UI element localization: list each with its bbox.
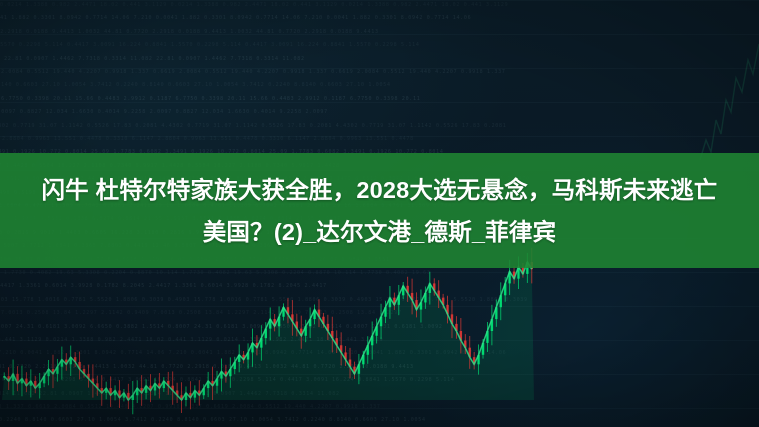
ticker-noise-row: 7.210 0.0041 1.882 0.3301 8.0942 0.7714 … bbox=[0, 350, 759, 363]
ticker-noise-row: 0.8827 12.034 1.6630 0.4014 9.2258 2.009… bbox=[0, 109, 759, 122]
ticker-noise-row: 0.6619 2.0084 0.5512 19.440 4.2207 0.991… bbox=[0, 404, 759, 417]
headline-line-2: 美国？(2)_达尔文港_德斯_菲律宾 bbox=[203, 212, 557, 252]
ticker-noise-row: 0.0214 1.3388 0.982 2.4471 18.02 0.441 3… bbox=[0, 337, 759, 350]
ticker-noise-row: 5.3308 0.2204 0.8870 10.114 1.7730 0.408… bbox=[0, 270, 759, 283]
ticker-noise-row: 1.0032 44.81 0.7720 2.2918 0.0188 9.4413… bbox=[0, 364, 759, 377]
ticker-noise-row: 7.210 0.0041 1.882 0.3301 8.0942 0.7714 … bbox=[0, 15, 759, 28]
ticker-noise-row: 3.7412 0.2240 8.8140 0.6603 27.10 1.0054… bbox=[0, 82, 759, 95]
ticker-noise-row: 6.6650 0.3882 1.5514 0.8007 24.31 0.6181… bbox=[0, 324, 759, 337]
ticker-noise-row: 1.0032 44.81 0.7720 2.2918 0.0188 9.4413… bbox=[0, 29, 759, 42]
ticker-noise-row: 1.3361 0.6014 3.9928 0.1782 8.2045 2.441… bbox=[0, 283, 759, 296]
ticker-noise-row: 0.4903 15.778 1.0016 0.7781 5.5520 1.880… bbox=[0, 297, 759, 310]
headline-banner: 闪牛 杜特尔特家族大获全胜，2028大选无悬念，马科斯未来逃亡 美国？(2)_达… bbox=[0, 153, 759, 268]
thumbnail-image: 0.0214 1.3388 0.982 2.4471 18.02 0.441 3… bbox=[0, 0, 759, 427]
ticker-noise-row: 2.1142 0.9409 7.0013 0.2508 13.84 1.2297… bbox=[0, 310, 759, 323]
ticker-noise-row: 22.81 0.0907 1.4462 7.7318 0.3314 11.082… bbox=[0, 56, 759, 69]
ticker-noise-row: 0.4417 3.0091 16.224 0.8841 1.5570 0.229… bbox=[0, 42, 759, 55]
ticker-noise-row: 22.81 0.0907 1.4462 7.7318 0.3314 11.082… bbox=[0, 391, 759, 404]
ticker-noise-row: 0.4417 3.0091 16.224 0.8841 1.5570 0.229… bbox=[0, 377, 759, 390]
ticker-noise-row: 15.66 0.4483 2.9912 0.1187 6.7750 0.3398… bbox=[0, 96, 759, 109]
ticker-noise-row: 0.6619 2.0084 0.5512 19.440 4.2207 0.991… bbox=[0, 69, 759, 82]
ticker-noise-row: 0.3310 6.1147 2.8804 0.9963 13.551 0.447… bbox=[0, 136, 759, 149]
ticker-noise-row: 0.0214 1.3388 0.982 2.4471 18.02 0.441 3… bbox=[0, 2, 759, 15]
headline-line-1: 闪牛 杜特尔特家族大获全胜，2028大选无悬念，马科斯未来逃亡 bbox=[41, 170, 717, 210]
ticker-noise-row: 3.7412 0.2240 8.8140 0.6603 27.10 1.0054… bbox=[0, 417, 759, 427]
ticker-noise-row: 4.4302 0.7719 31.07 1.1142 0.5526 17.83 … bbox=[0, 123, 759, 136]
